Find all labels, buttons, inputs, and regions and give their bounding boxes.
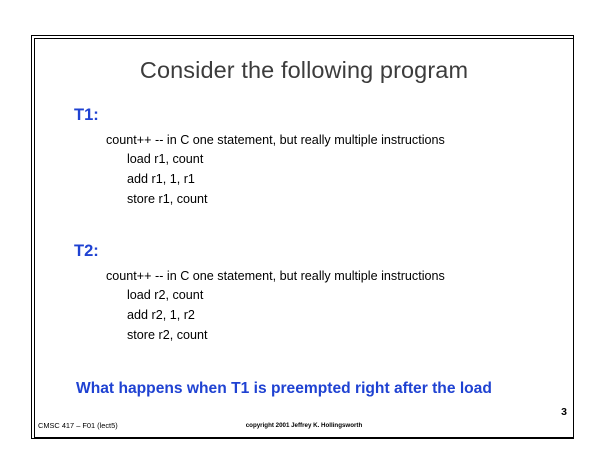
slide-footer: CMSC 417 – F01 (lect5) copyright 2001 Je…	[35, 417, 573, 438]
thread-block-t1: T1: count++ -- in C one statement, but r…	[35, 105, 573, 209]
footer-divider	[35, 437, 573, 438]
thread-comment-t2: count++ -- in C one statement, but reall…	[106, 268, 573, 285]
thread-instruction-t1-store: store r1, count	[127, 189, 573, 209]
footer-page-number: 3	[561, 406, 567, 418]
thread-block-t2: T2: count++ -- in C one statement, but r…	[35, 241, 573, 345]
thread-comment-t1: count++ -- in C one statement, but reall…	[106, 132, 573, 149]
thread-instruction-t2-store: store r2, count	[127, 325, 573, 345]
slide-inner-frame: Consider the following program T1: count…	[34, 38, 574, 439]
footer-copyright-label: copyright 2001 Jeffrey K. Hollingsworth	[35, 422, 573, 429]
thread-instruction-t1-add: add r1, 1, r1	[127, 169, 573, 189]
slide-outer-frame: Consider the following program T1: count…	[31, 35, 574, 439]
thread-instruction-t1-load: load r1, count	[127, 149, 573, 169]
thread-label-t1: T1:	[74, 105, 573, 125]
thread-label-t2: T2:	[74, 241, 573, 261]
thread-instruction-t2-load: load r2, count	[127, 285, 573, 305]
slide-title: Consider the following program	[35, 57, 573, 84]
slide-question-line: What happens when T1 is preempted right …	[76, 380, 492, 398]
slide-content-area: Consider the following program T1: count…	[35, 39, 573, 438]
thread-instruction-t2-add: add r2, 1, r2	[127, 305, 573, 325]
